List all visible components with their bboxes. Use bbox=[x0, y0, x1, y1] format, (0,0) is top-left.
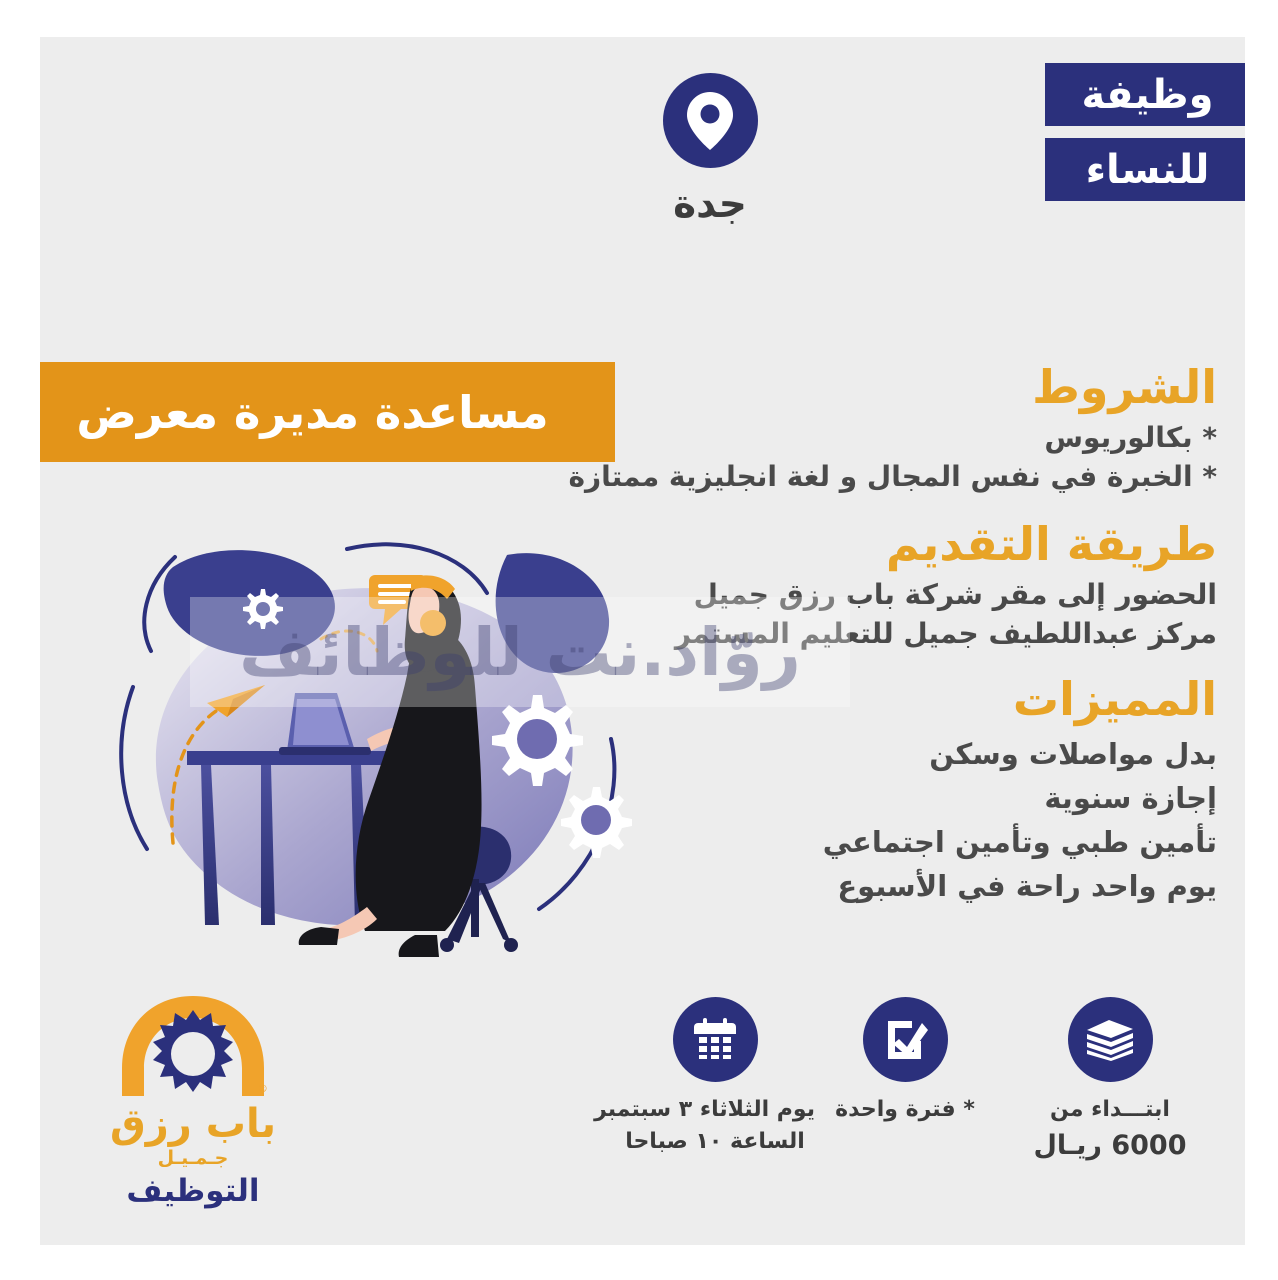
salary-line-2: 6000 ريـال bbox=[1010, 1126, 1210, 1165]
apply-line: الحضور إلى مقر شركة باب رزق جميل bbox=[587, 575, 1217, 615]
gear-small-icon bbox=[561, 787, 632, 858]
calendar-icon bbox=[691, 1017, 739, 1063]
conditions-heading: الشروط bbox=[587, 362, 1217, 414]
apply-line: مركز عبداللطيف جميل للتعليم المستمر bbox=[587, 614, 1217, 654]
badge-job: وظيفة bbox=[1045, 63, 1245, 126]
badge-women: للنساء bbox=[1045, 138, 1245, 201]
logo-block: ® باب رزق جـمـيـل التوظيف bbox=[98, 992, 288, 1210]
conditions-line: * بكالوريوس bbox=[587, 418, 1217, 458]
checkbox-icon-circle bbox=[863, 997, 948, 1082]
date-line-1: يوم الثلاثاء ٣ سبتمبر bbox=[615, 1094, 815, 1126]
svg-text:®: ® bbox=[257, 1082, 268, 1095]
money-stack-icon-circle bbox=[1068, 997, 1153, 1082]
apply-heading: طريقة التقديم bbox=[587, 519, 1217, 571]
job-title-text: مساعدة مديرة معرض bbox=[76, 386, 548, 439]
info-item-salary: ابتـــداء من 6000 ريـال bbox=[1010, 997, 1210, 1165]
period-line-1: * فترة واحدة bbox=[805, 1094, 1005, 1126]
logo-wordmark: باب رزق bbox=[98, 1104, 288, 1144]
logo-sub: جـمـيـل bbox=[98, 1144, 288, 1173]
info-item-date: يوم الثلاثاء ٣ سبتمبر الساعة ١٠ صباحا bbox=[615, 997, 815, 1158]
conditions-line: * الخبرة في نفس المجال و لغة انجليزية مم… bbox=[587, 457, 1217, 497]
map-pin-icon bbox=[684, 90, 736, 152]
gear-large-icon bbox=[492, 695, 583, 786]
date-line-2: الساعة ١٠ صباحا bbox=[615, 1126, 815, 1158]
checkbox-check-icon bbox=[882, 1017, 928, 1063]
badge-women-label: للنساء bbox=[1086, 150, 1210, 190]
period-caption: * فترة واحدة bbox=[805, 1094, 1005, 1126]
benefit-line: إجازة سنوية bbox=[587, 776, 1217, 820]
benefit-line: يوم واحد راحة في الأسبوع bbox=[587, 864, 1217, 908]
bab-rizq-jameel-logo: ® bbox=[108, 992, 278, 1104]
logo-tagline: التوظيف bbox=[98, 1173, 288, 1210]
poster-canvas: وظيفة للنساء جدة bbox=[40, 37, 1245, 1245]
info-column: الشروط * بكالوريوس * الخبرة في نفس المجا… bbox=[587, 362, 1217, 908]
badge-job-label: وظيفة bbox=[1082, 75, 1214, 115]
salary-line-1: ابتـــداء من bbox=[1010, 1094, 1210, 1126]
benefit-line: بدل مواصلات وسكن bbox=[587, 732, 1217, 776]
location-block: جدة bbox=[615, 73, 805, 227]
info-item-period: * فترة واحدة bbox=[805, 997, 1005, 1126]
calendar-icon-circle bbox=[673, 997, 758, 1082]
benefits-heading: المميزات bbox=[587, 674, 1217, 726]
date-caption: يوم الثلاثاء ٣ سبتمبر الساعة ١٠ صباحا bbox=[615, 1094, 815, 1158]
job-title-banner: مساعدة مديرة معرض bbox=[40, 362, 615, 462]
money-stack-icon bbox=[1085, 1018, 1135, 1062]
salary-caption: ابتـــداء من 6000 ريـال bbox=[1010, 1094, 1210, 1165]
woman-working-illustration bbox=[115, 527, 675, 987]
location-label: جدة bbox=[615, 182, 805, 227]
benefit-line: تأمين طبي وتأمين اجتماعي bbox=[587, 820, 1217, 864]
location-pin-circle bbox=[663, 73, 758, 168]
